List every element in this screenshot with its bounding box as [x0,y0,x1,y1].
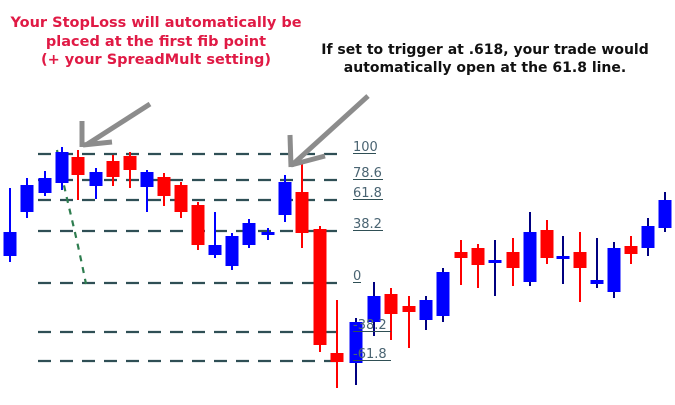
candle [455,240,468,285]
candle-body [141,172,154,187]
candle-body [279,182,292,215]
candle-body [659,200,672,228]
candle [262,228,275,240]
fib-label-underline [353,179,383,180]
candles-group [4,147,672,388]
candle [279,175,292,222]
candle [314,226,327,352]
candle-body [331,353,344,362]
fib-label-underline [353,360,391,361]
candle [175,182,188,218]
candle-body [507,252,520,268]
candle-body [608,248,621,292]
chart-canvas: Your StopLoss will automatically be plac… [0,0,675,405]
candle-body [72,157,85,175]
candle [541,220,554,264]
candle-body [489,260,502,263]
candle [72,150,85,200]
candle-body [524,232,537,282]
candle-body [175,185,188,212]
candle-body [642,226,655,248]
fib-label-underline [353,199,383,200]
fib-label-underline [353,282,361,283]
candlestick-chart-svg [0,0,675,405]
candle-body [541,230,554,258]
candle-body [158,177,171,196]
fib-label-underline [353,331,391,332]
candle-body [192,205,205,245]
candle [4,188,17,262]
candle [209,212,222,258]
candle [403,296,416,348]
candle-body [243,223,256,245]
candle [21,178,34,218]
candle-body [420,300,433,320]
candle [507,238,520,286]
candle [124,152,137,188]
candle-body [455,252,468,258]
candle [642,218,655,256]
candle-body [209,245,222,255]
candle [437,268,450,322]
candle [296,164,309,248]
candle [659,192,672,232]
candle [524,212,537,286]
candle [56,147,69,190]
candle-body [90,172,103,186]
stoploss-arrow [82,104,150,147]
candle [608,242,621,298]
candle [243,219,256,248]
candle [557,236,570,284]
candle [107,155,120,186]
candle-body [574,252,587,268]
candle [625,236,638,264]
candle-body [262,232,275,235]
candle [472,244,485,288]
candle-body [437,272,450,316]
candle [574,232,587,302]
candle-body [226,236,239,266]
candle [39,171,52,196]
fib-label-underline [353,230,383,231]
candle [489,240,502,296]
candle-body [385,294,398,314]
candle [331,300,344,388]
fib-lines-group [38,154,345,361]
candle-body [21,185,34,212]
candle-body [557,256,570,259]
candle-body [625,246,638,254]
trigger-arrow [290,96,368,167]
candle [192,202,205,250]
candle-body [314,229,327,345]
candle [420,296,433,330]
candle-body [4,232,17,256]
candle-body [124,156,137,170]
candle [591,238,604,288]
candle-body [591,280,604,284]
candle [226,233,239,270]
fib-label-underline [353,153,376,154]
candle-body [403,306,416,312]
candle-body [472,248,485,265]
candle-body [56,152,69,183]
candle [141,170,154,212]
candle-body [296,192,309,233]
candle-body [107,161,120,177]
candle [90,168,103,199]
candle-body [39,178,52,193]
